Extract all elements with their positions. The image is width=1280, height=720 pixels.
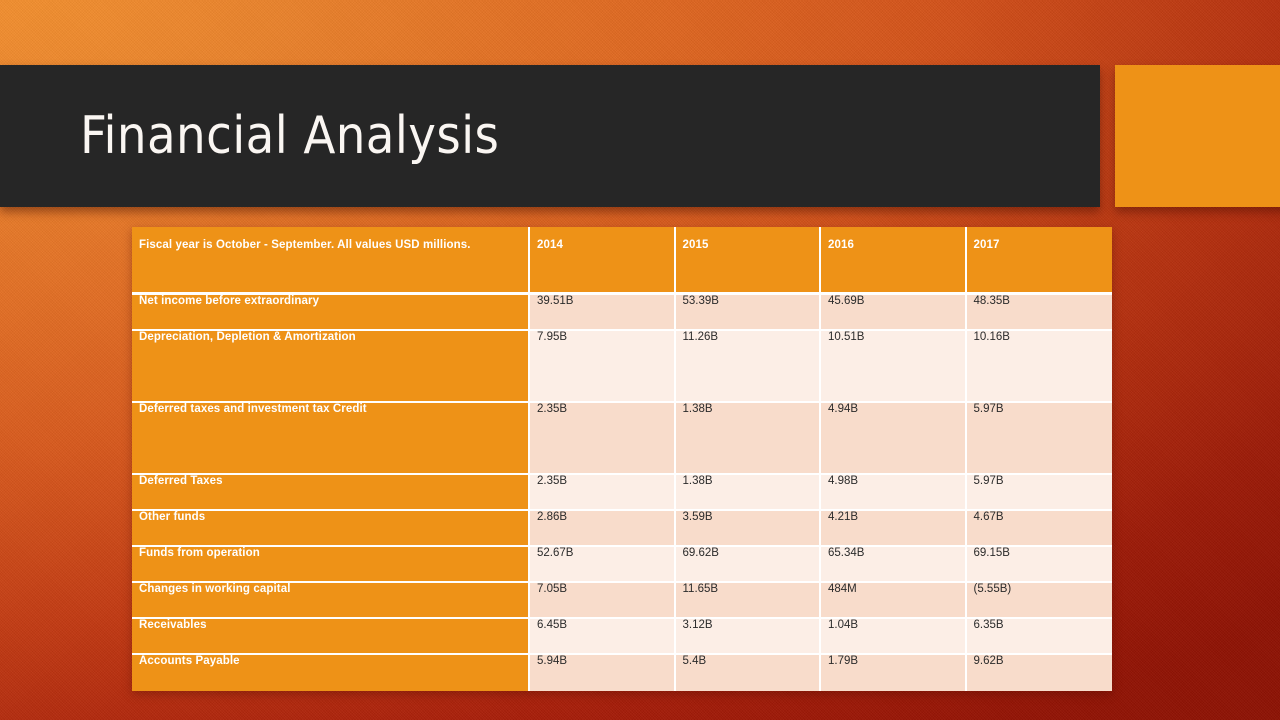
table-row: Net income before extraordinary 39.51B 5… [132, 295, 1112, 331]
cell-value: 10.51B [821, 331, 967, 403]
table-row: Accounts Payable 5.94B 5.4B 1.79B 9.62B [132, 655, 1112, 691]
cell-value: 484M [821, 583, 967, 619]
row-label: Changes in working capital [132, 583, 530, 619]
title-banner: Financial Analysis [0, 65, 1100, 207]
cell-value: 2.86B [530, 511, 676, 547]
cell-value: 5.97B [967, 403, 1113, 475]
cell-value: 4.94B [821, 403, 967, 475]
table-header-year-2016: 2016 [821, 227, 967, 295]
cell-value: 6.35B [967, 619, 1113, 655]
table-row: Deferred taxes and investment tax Credit… [132, 403, 1112, 475]
row-label: Deferred Taxes [132, 475, 530, 511]
table-row: Deferred Taxes 2.35B 1.38B 4.98B 5.97B [132, 475, 1112, 511]
cell-value: 3.12B [676, 619, 822, 655]
cell-value: 1.38B [676, 403, 822, 475]
cell-value: 5.94B [530, 655, 676, 691]
cell-value: 6.45B [530, 619, 676, 655]
row-label: Net income before extraordinary [132, 295, 530, 331]
table-header-year-2014: 2014 [530, 227, 676, 295]
row-label: Depreciation, Depletion & Amortization [132, 331, 530, 403]
financial-table-container: Fiscal year is October - September. All … [132, 227, 1112, 691]
cell-value: 11.65B [676, 583, 822, 619]
row-label: Funds from operation [132, 547, 530, 583]
cell-value: 11.26B [676, 331, 822, 403]
row-label: Receivables [132, 619, 530, 655]
cell-value: 7.05B [530, 583, 676, 619]
table-row: Depreciation, Depletion & Amortization 7… [132, 331, 1112, 403]
table-row: Funds from operation 52.67B 69.62B 65.34… [132, 547, 1112, 583]
cell-value: 53.39B [676, 295, 822, 331]
table-header-description: Fiscal year is October - September. All … [132, 227, 530, 295]
cell-value: 5.97B [967, 475, 1113, 511]
cell-value: 69.15B [967, 547, 1113, 583]
financial-table: Fiscal year is October - September. All … [132, 227, 1112, 691]
cell-value: 1.04B [821, 619, 967, 655]
table-row: Changes in working capital 7.05B 11.65B … [132, 583, 1112, 619]
table-header-row: Fiscal year is October - September. All … [132, 227, 1112, 295]
cell-value: 9.62B [967, 655, 1113, 691]
slide: Financial Analysis Fiscal year is Octobe… [0, 0, 1280, 720]
row-label: Accounts Payable [132, 655, 530, 691]
cell-value: 45.69B [821, 295, 967, 331]
cell-value: 10.16B [967, 331, 1113, 403]
row-label: Other funds [132, 511, 530, 547]
cell-value: 4.67B [967, 511, 1113, 547]
accent-block-top-right [1115, 65, 1280, 207]
cell-value: 69.62B [676, 547, 822, 583]
cell-value: 65.34B [821, 547, 967, 583]
table-header-year-2017: 2017 [967, 227, 1113, 295]
cell-value: 1.38B [676, 475, 822, 511]
table-row: Receivables 6.45B 3.12B 1.04B 6.35B [132, 619, 1112, 655]
cell-value: 48.35B [967, 295, 1113, 331]
cell-value: 7.95B [530, 331, 676, 403]
cell-value: 3.59B [676, 511, 822, 547]
cell-value: 2.35B [530, 475, 676, 511]
cell-value: 1.79B [821, 655, 967, 691]
table-row: Other funds 2.86B 3.59B 4.21B 4.67B [132, 511, 1112, 547]
page-title: Financial Analysis [80, 110, 499, 162]
table-header-year-2015: 2015 [676, 227, 822, 295]
cell-value: (5.55B) [967, 583, 1113, 619]
row-label: Deferred taxes and investment tax Credit [132, 403, 530, 475]
cell-value: 4.98B [821, 475, 967, 511]
cell-value: 2.35B [530, 403, 676, 475]
cell-value: 5.4B [676, 655, 822, 691]
cell-value: 4.21B [821, 511, 967, 547]
cell-value: 39.51B [530, 295, 676, 331]
cell-value: 52.67B [530, 547, 676, 583]
